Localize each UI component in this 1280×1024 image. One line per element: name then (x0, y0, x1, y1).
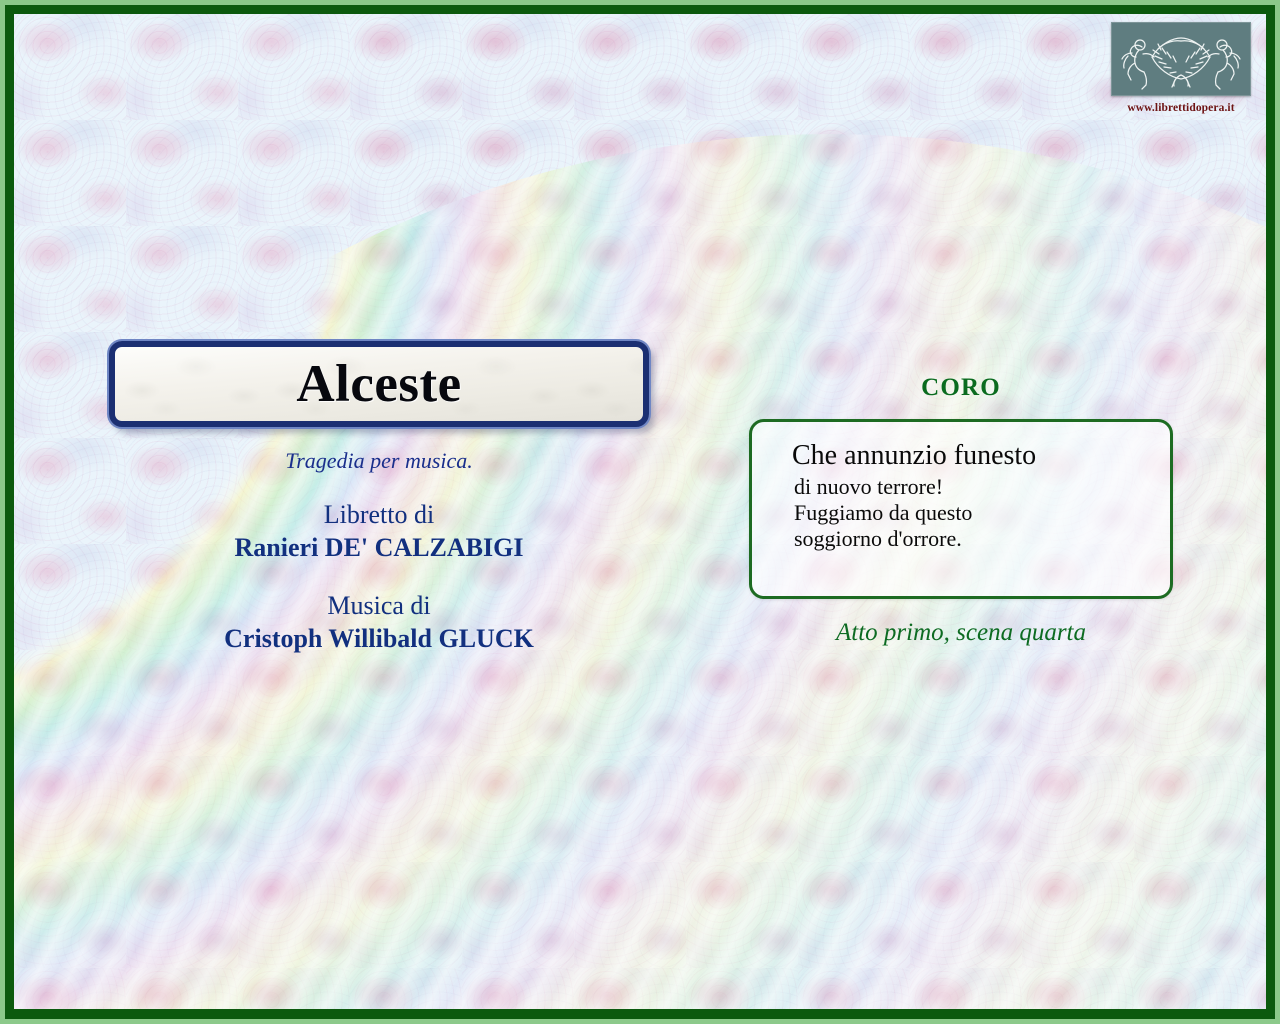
two-cherubs-holding-laurel-wreath-icon (1111, 22, 1251, 96)
page-frame-inner: www.librettidopera.it Alceste Tragedia p… (5, 5, 1275, 1019)
site-url-label: www.librettidopera.it (1107, 102, 1255, 114)
title-plate: Alceste (109, 341, 649, 427)
page-canvas: www.librettidopera.it Alceste Tragedia p… (14, 14, 1266, 1009)
libretto-author-name: Ranieri DE' CALZABIGI (99, 531, 659, 564)
quote-line: soggiorno d'orrore. (782, 526, 1150, 552)
site-logo[interactable]: www.librettidopera.it (1107, 22, 1255, 114)
page-frame-outer: www.librettidopera.it Alceste Tragedia p… (0, 0, 1280, 1024)
excerpt-column: CORO Che annunzio funesto di nuovo terro… (749, 374, 1173, 647)
music-author-name: Cristoph Willibald GLUCK (99, 622, 659, 655)
libretto-role-label: Libretto di (99, 498, 659, 531)
quote-line: Che annunzio funesto (782, 440, 1150, 472)
music-credit: Musica di Cristoph Willibald GLUCK (99, 589, 659, 656)
excerpt-scene-label: Atto primo, scena quarta (749, 619, 1173, 647)
excerpt-character-name: CORO (749, 374, 1173, 402)
work-info-column: Alceste Tragedia per musica. Libretto di… (99, 341, 659, 655)
quote-line: di nuovo terrore! (782, 474, 1150, 500)
quote-line: Fuggiamo da questo (782, 500, 1150, 526)
music-role-label: Musica di (99, 589, 659, 622)
excerpt-quote-box: Che annunzio funesto di nuovo terrore! F… (749, 419, 1173, 599)
opera-title: Alceste (296, 358, 461, 411)
excerpt-quote-lines: Che annunzio funesto di nuovo terrore! F… (772, 440, 1150, 551)
libretto-credit: Libretto di Ranieri DE' CALZABIGI (99, 498, 659, 565)
work-subtitle: Tragedia per musica. (99, 448, 659, 474)
